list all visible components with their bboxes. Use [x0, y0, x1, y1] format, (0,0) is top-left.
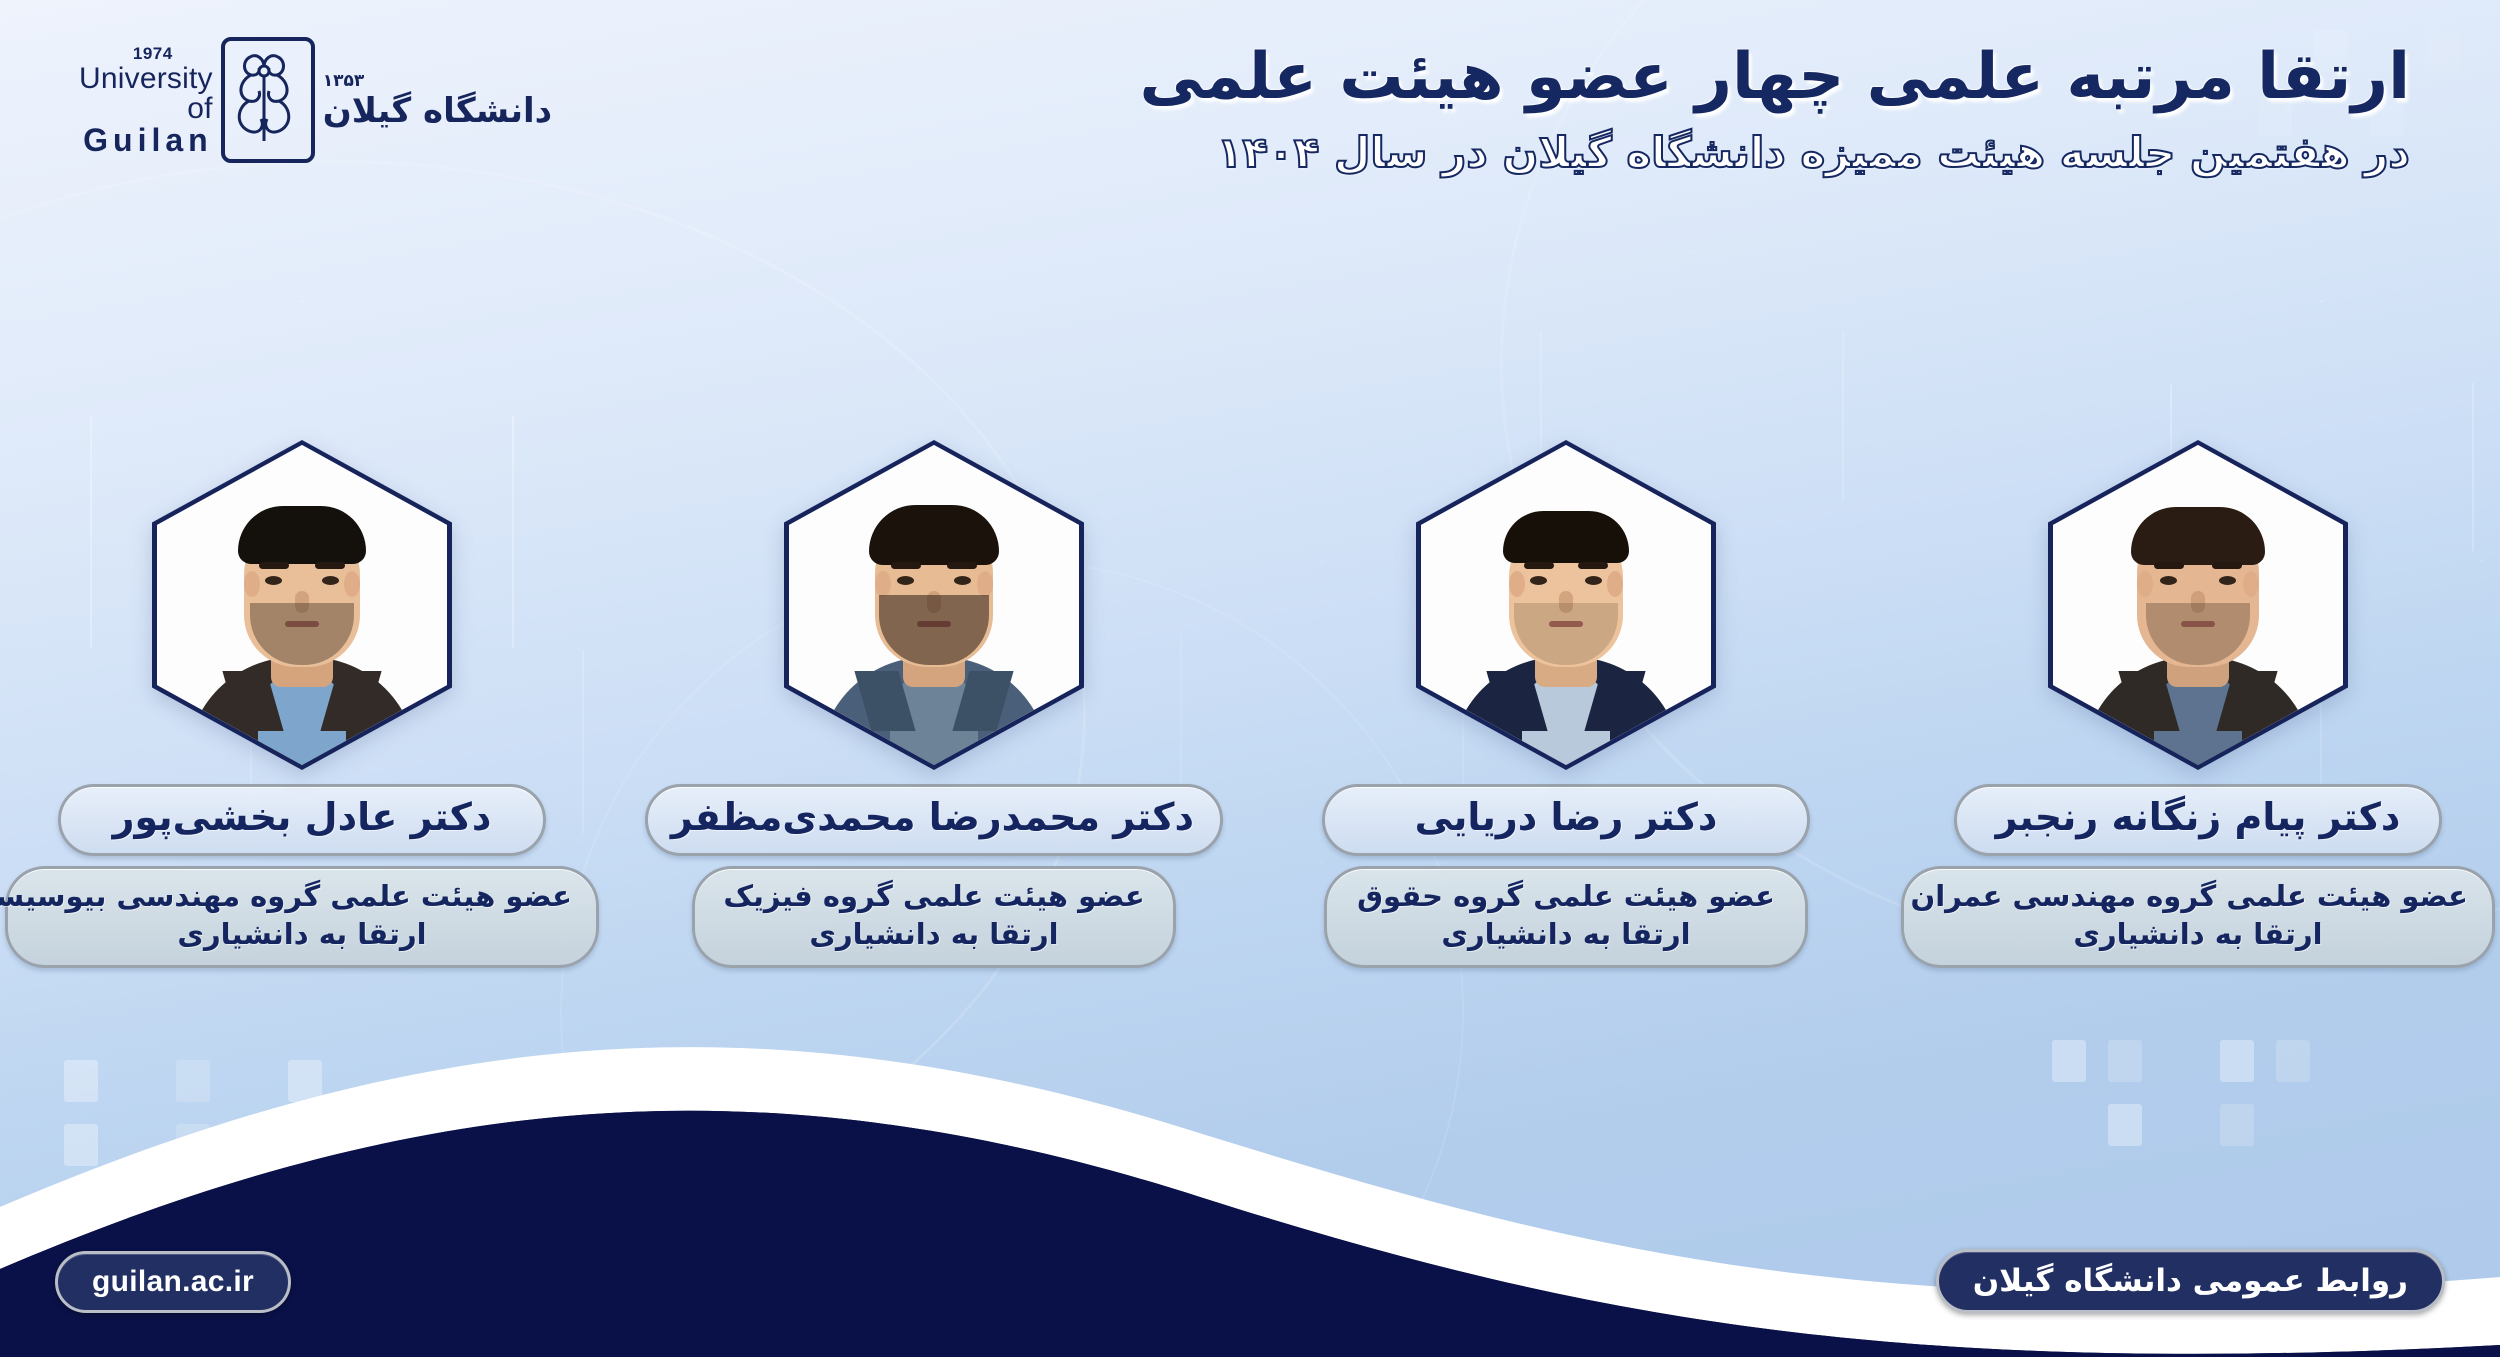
poster-subtitle: در هفتمین جلسه هیئت ممیزه دانشگاه گیلان …: [1139, 128, 2410, 178]
logo-persian-text: ۱۳۵۳ دانشگاه گیلان: [323, 73, 552, 128]
logo-year-fa: ۱۳۵۳: [323, 73, 552, 90]
honoree-nameplate: دکتر عادل بخشی‌پور: [58, 784, 546, 856]
public-relations-pill[interactable]: روابط عمومی دانشگاه گیلان: [1936, 1249, 2445, 1313]
honoree-name: دکتر عادل بخشی‌پور: [87, 794, 517, 842]
portrait-payam-zanganeh-ranjbar: [2053, 445, 2343, 765]
logo-english-text: 1974 University of Guilan: [79, 45, 213, 156]
portrait-mohammadreza-mohammadi-mozaffar: [789, 445, 1079, 765]
honoree-photo-hexagon: [2048, 440, 2348, 770]
honoree-photo-hexagon: [784, 440, 1084, 770]
poster-title: ارتقا مرتبه علمی چهار عضو هیئت علمی: [1139, 40, 2410, 116]
honoree-nameplate: دکتر محمدرضا محمدی‌مظفر: [645, 784, 1223, 856]
university-logo: 1974 University of Guilan ۱۳۵۳ دانشگاه گ…: [75, 30, 495, 170]
honoree-name: دکتر پیام زنگانه رنجبر: [1983, 794, 2413, 842]
portrait-adel-bakhshipour: [157, 445, 447, 765]
honoree-nameplate: دکتر رضا دریایی: [1322, 784, 1810, 856]
honoree-photo-hexagon: [1416, 440, 1716, 770]
logo-year-en: 1974: [79, 45, 173, 62]
poster-canvas: 1974 University of Guilan ۱۳۵۳ دانشگاه گ…: [0, 0, 2500, 1357]
portrait-reza-daryaei: [1421, 445, 1711, 765]
honoree-photo-hexagon: [152, 440, 452, 770]
website-pill[interactable]: guilan.ac.ir: [55, 1251, 291, 1313]
logo-line-university-of: University of: [79, 64, 213, 124]
poster-title-block: ارتقا مرتبه علمی چهار عضو هیئت علمی در ه…: [1139, 40, 2410, 178]
honoree-name: دکتر محمدرضا محمدی‌مظفر: [674, 794, 1194, 842]
guilan-university-emblem-icon: [221, 37, 315, 163]
logo-name-fa: دانشگاه گیلان: [323, 94, 552, 128]
logo-line-guilan: Guilan: [79, 124, 213, 156]
honoree-nameplate: دکتر پیام زنگانه رنجبر: [1954, 784, 2442, 856]
website-url: guilan.ac.ir: [92, 1265, 254, 1299]
honoree-name: دکتر رضا دریایی: [1351, 794, 1781, 842]
public-relations-label: روابط عمومی دانشگاه گیلان: [1973, 1263, 2408, 1299]
